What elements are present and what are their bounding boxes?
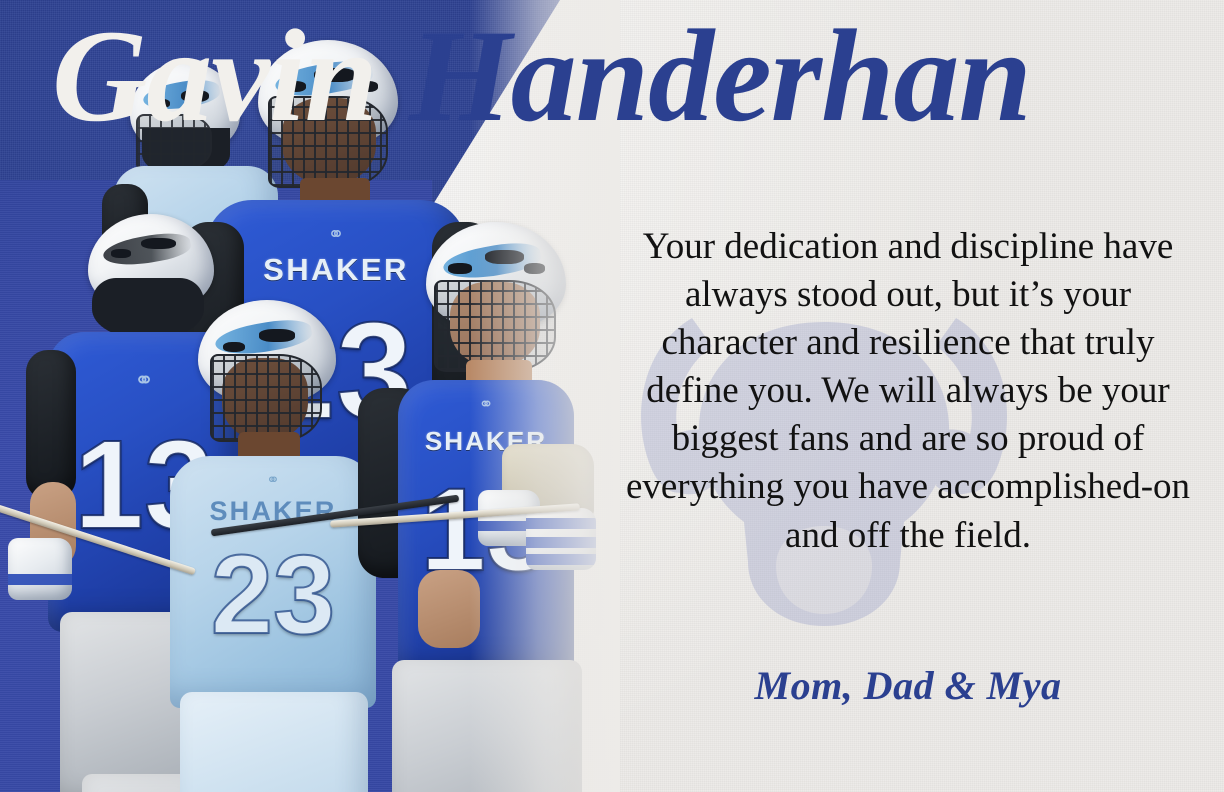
face-cage [210, 354, 322, 442]
glove [8, 538, 72, 600]
bison-chest-logo-icon: ⚭ [398, 394, 574, 415]
face-cage [434, 280, 556, 372]
signature: Mom, Dad & Mya [622, 662, 1194, 709]
player-photo-collage: ⚭ SHAKER 23 ⚭ 13 [0, 0, 620, 792]
sleeve [26, 350, 76, 500]
forearm [418, 570, 480, 648]
face-cage [268, 96, 388, 188]
senior-tribute-poster: ⚭ SHAKER 23 ⚭ 13 [0, 0, 1224, 792]
tribute-message: Your dedication and discipline have alwa… [622, 223, 1194, 560]
shorts [392, 660, 582, 792]
glove-lower [526, 508, 596, 570]
